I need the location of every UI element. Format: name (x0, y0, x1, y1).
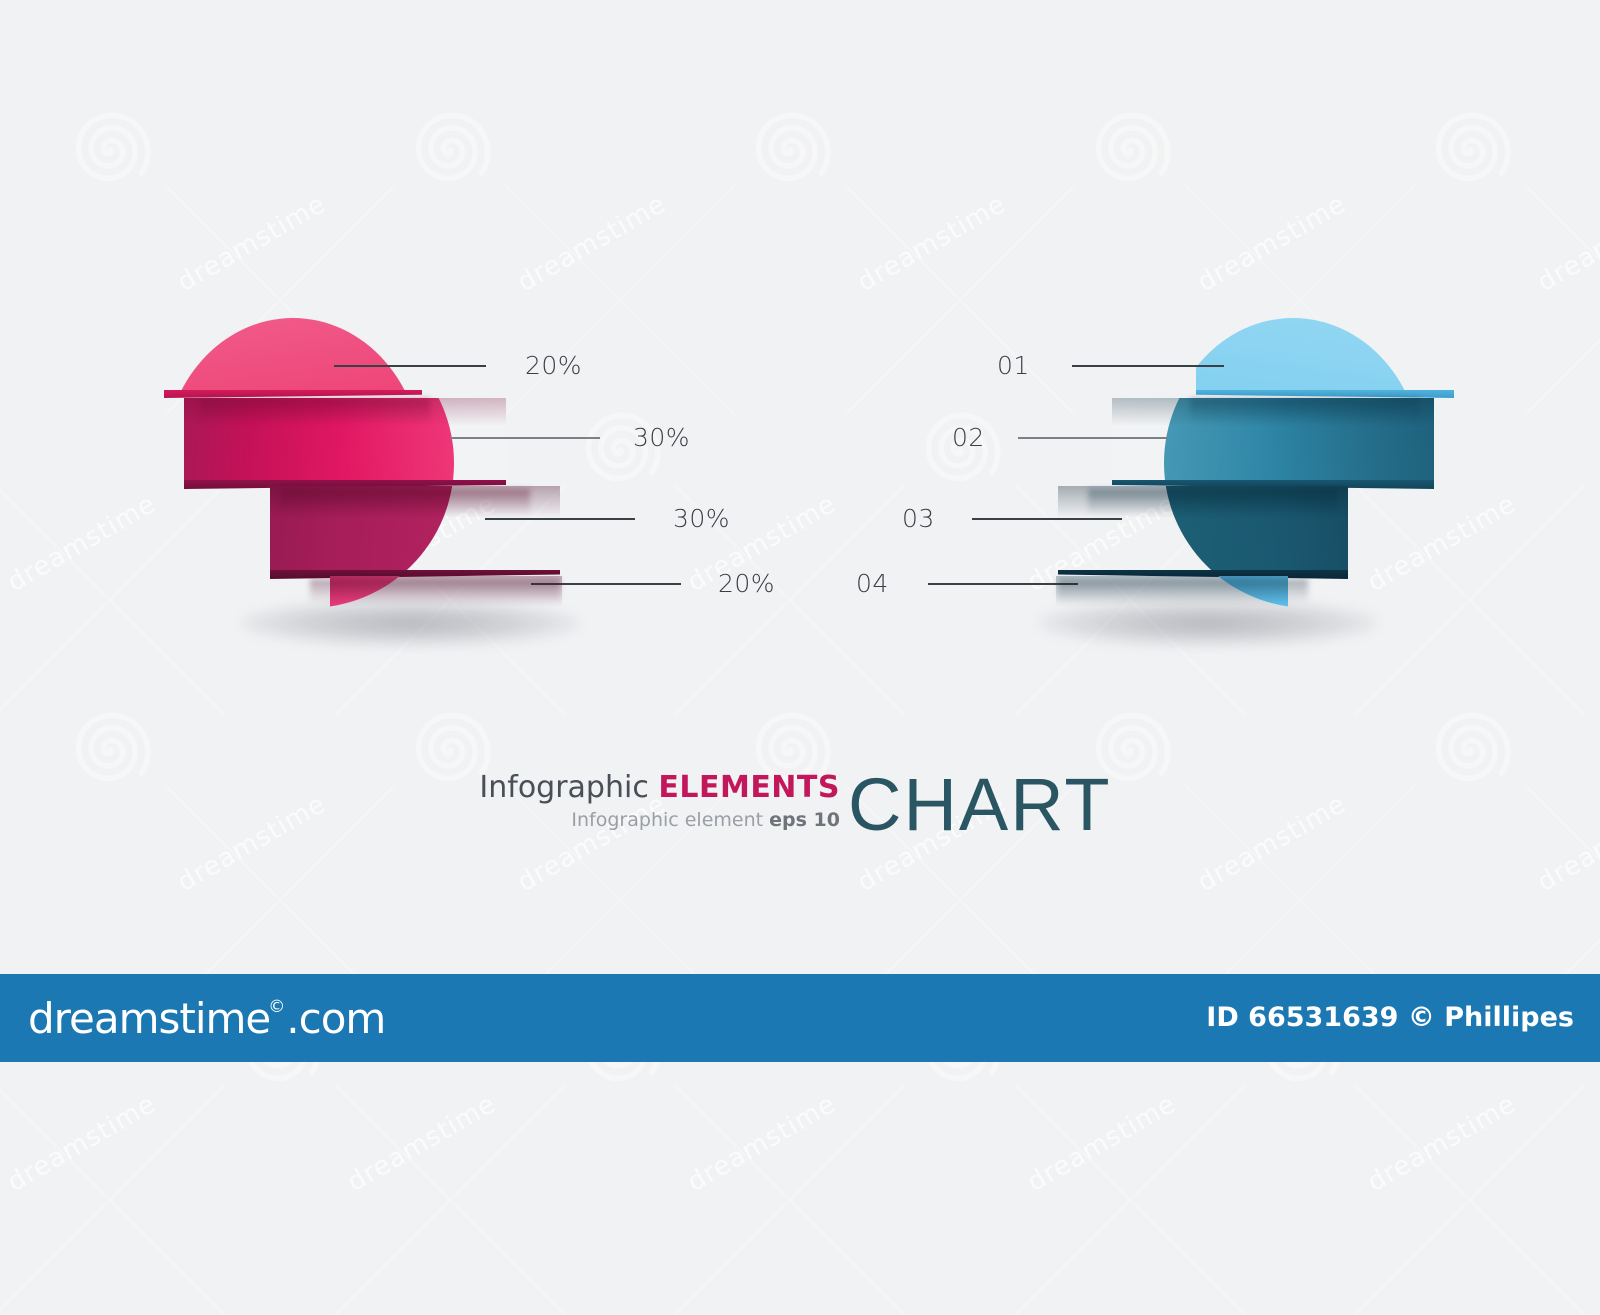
pink-label-4: 20% (718, 569, 775, 598)
pink-chart: 20% 30% 30% 20% (160, 318, 780, 648)
dreamstime-watermark-text: dreamstime (343, 1089, 502, 1198)
blue-segment-2[interactable] (1112, 398, 1434, 480)
pink-segment-1[interactable] (164, 318, 422, 390)
pink-segment-2-highlight (184, 398, 506, 480)
pink-label-1: 20% (525, 351, 582, 380)
blue-leader-4 (928, 583, 1078, 585)
x-watermark-icon (335, 1085, 565, 1315)
blue-label-4: 04 (856, 569, 889, 598)
dreamstime-watermark-text: dreamstime (1363, 1089, 1522, 1198)
x-watermark-icon (0, 1085, 225, 1315)
dreamstime-logo-text: dreamstime (28, 994, 270, 1043)
headline: Infographic ELEMENTS (380, 770, 840, 805)
subline: Infographic element eps 10 (380, 809, 840, 831)
blue-chart: 01 02 03 04 (840, 318, 1460, 648)
subline-bold: eps 10 (769, 809, 840, 831)
blue-segment-1-edge (1196, 390, 1454, 398)
x-watermark-icon (1355, 1085, 1585, 1315)
pink-segment-4[interactable] (330, 576, 562, 650)
blue-leader-3 (972, 518, 1122, 520)
pink-leader-2 (450, 437, 600, 439)
subline-plain: Infographic element (571, 809, 769, 831)
headline-plain: Infographic (479, 770, 658, 805)
headline-bold: ELEMENTS (658, 770, 840, 805)
pink-label-2: 30% (633, 423, 690, 452)
blue-segment-2-highlight (1112, 398, 1434, 480)
blue-label-1: 01 (997, 351, 1030, 380)
pink-segment-3-inner-shade (270, 486, 560, 570)
blue-segment-1-fill (1196, 318, 1422, 390)
dreamstime-logo-suffix: .com (286, 994, 385, 1043)
blue-segment-4[interactable] (1056, 576, 1288, 650)
blue-segment-4-inner-shade (1056, 576, 1288, 650)
pink-segment-3[interactable] (270, 486, 560, 570)
blue-segment-1[interactable] (1196, 318, 1454, 390)
title-block: Infographic ELEMENTS Infographic element… (380, 770, 840, 831)
dreamstime-watermark-text: dreamstime (683, 1089, 842, 1198)
dreamstime-watermark-text: dreamstime (3, 1089, 162, 1198)
dreamstime-logo[interactable]: dreamstime©.com (28, 994, 385, 1043)
blue-label-3: 03 (902, 504, 935, 533)
x-watermark-icon (675, 1085, 905, 1315)
pink-segment-4-inner-shade (330, 576, 562, 650)
dreamstime-watermark-text: dreamstime (1023, 1089, 1182, 1198)
pink-segment-2[interactable] (184, 398, 506, 480)
chart-word: CHART (848, 768, 1112, 842)
charts-stage: 20% 30% 30% 20% (0, 0, 1600, 1062)
registered-mark-icon: © (268, 997, 284, 1017)
x-watermark-icon (1015, 1085, 1245, 1315)
image-id-credit: ID 66531639 © Phillipes (1206, 1002, 1574, 1033)
blue-leader-2 (1018, 437, 1168, 439)
blue-label-2: 02 (952, 423, 985, 452)
footer-bar: dreamstime©.com ID 66531639 © Phillipes (0, 974, 1600, 1062)
blue-leader-1 (1072, 365, 1224, 367)
pink-leader-4 (531, 583, 681, 585)
pink-segment-1-fill (164, 318, 422, 390)
pink-leader-3 (485, 518, 635, 520)
blue-segment-3-inner-shade (1058, 486, 1348, 570)
pink-leader-1 (334, 365, 486, 367)
pink-label-3: 30% (673, 504, 730, 533)
blue-segment-3[interactable] (1058, 486, 1348, 570)
pink-segment-1-edge (164, 390, 422, 398)
